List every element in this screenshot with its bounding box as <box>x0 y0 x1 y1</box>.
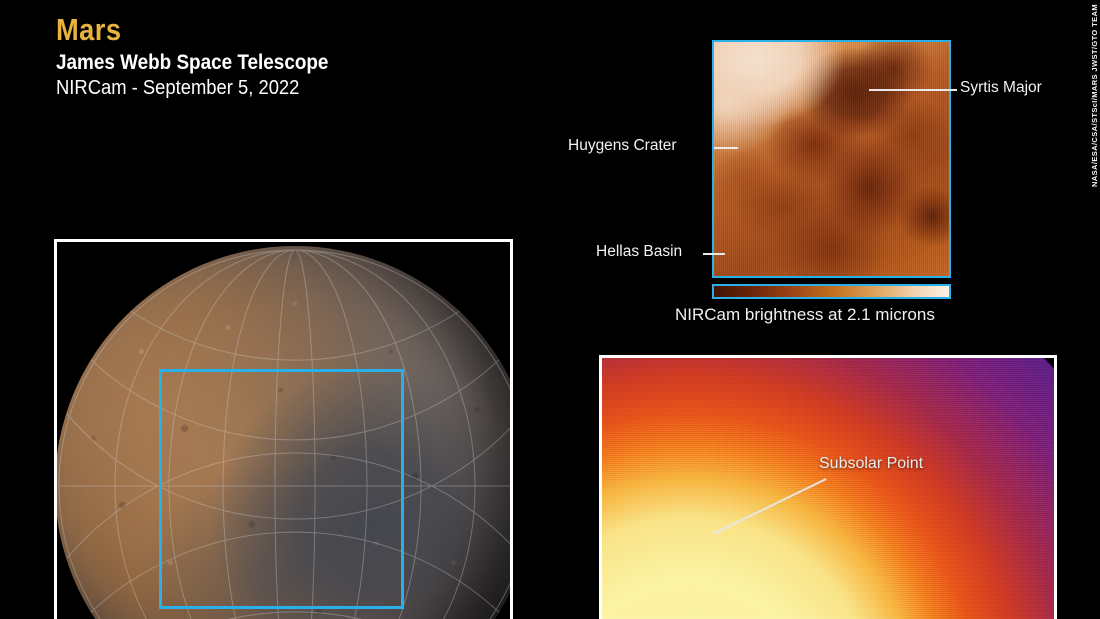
nircam-detector-noise <box>714 42 949 276</box>
nircam-label-hellas-basin: Hellas Basin <box>596 243 682 261</box>
instrument-date-subtitle: NIRCam - September 5, 2022 <box>56 76 334 100</box>
title-block: Mars James Webb Space Telescope NIRCam -… <box>54 14 359 100</box>
leader-line-huygens-crater <box>714 147 738 149</box>
nircam-image-panel <box>712 40 951 278</box>
thermal-label-subsolar-point: Subsolar Point <box>819 455 923 473</box>
nircam-fov-box <box>159 369 404 609</box>
colorbar-caption: NIRCam brightness at 2.1 microns <box>675 305 914 325</box>
infographic-canvas: Mars James Webb Space Telescope NIRCam -… <box>0 0 1100 619</box>
thermal-detector-noise <box>602 358 1054 619</box>
telescope-subtitle: James Webb Space Telescope <box>56 51 328 75</box>
leader-line-hellas-basin <box>703 253 725 255</box>
page-title: Mars <box>56 14 322 47</box>
nircam-label-syrtis-major: Syrtis Major <box>960 79 1042 97</box>
image-credit: NASA/ESA/CSA/STScI/MARS JWST/GTO TEAM <box>1088 0 1100 191</box>
thermal-emission-image <box>602 358 1054 619</box>
brightness-colorbar <box>712 284 951 299</box>
leader-line-syrtis-major <box>869 89 957 91</box>
thermal-image-panel <box>599 355 1057 619</box>
nircam-label-huygens-crater: Huygens Crater <box>568 137 677 155</box>
globe-image <box>57 242 510 619</box>
mars-globe-panel: Syrtis Major Huygens Crater Hellas Basin <box>54 239 513 619</box>
nircam-brightness-image <box>712 40 951 278</box>
